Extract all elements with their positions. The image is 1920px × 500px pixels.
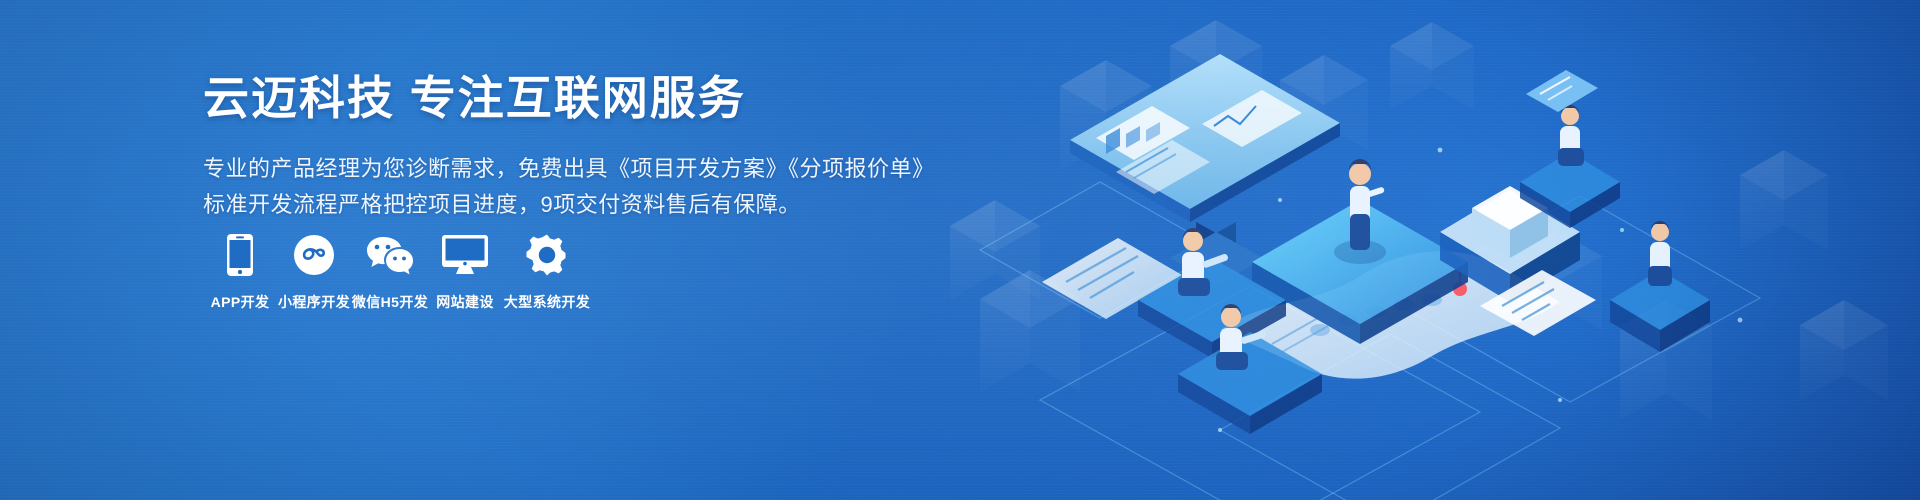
- service-label: 微信H5开发: [352, 292, 428, 312]
- promo-banner: 云迈科技 专注互联网服务 专业的产品经理为您诊断需求，免费出具《项目开发方案》《…: [0, 0, 1920, 500]
- wechat-icon: [365, 232, 415, 278]
- service-item-mini-program[interactable]: 小程序开发: [277, 232, 351, 312]
- service-item-website[interactable]: 网站建设: [429, 232, 501, 312]
- mobile-phone-icon: [227, 232, 253, 278]
- banner-text-block: 云迈科技 专注互联网服务 专业的产品经理为您诊断需求，免费出具《项目开发方案》《…: [203, 72, 963, 222]
- service-item-large-system[interactable]: 大型系统开发: [501, 232, 593, 312]
- subtitle-line-1: 专业的产品经理为您诊断需求，免费出具《项目开发方案》《分项报价单》: [203, 156, 935, 181]
- gear-icon: [525, 232, 569, 278]
- monitor-icon: [442, 232, 488, 278]
- service-label: APP开发: [211, 292, 270, 312]
- banner-subtitle: 专业的产品经理为您诊断需求，免费出具《项目开发方案》《分项报价单》 标准开发流程…: [203, 151, 963, 222]
- mini-program-icon: [293, 232, 335, 278]
- service-label: 网站建设: [436, 292, 494, 312]
- subtitle-line-2: 标准开发流程严格把控项目进度，9项交付资料售后有保障。: [203, 187, 963, 223]
- service-item-app[interactable]: APP开发: [203, 232, 277, 312]
- service-item-wechat-h5[interactable]: 微信H5开发: [351, 232, 429, 312]
- service-label: 小程序开发: [278, 292, 350, 312]
- service-list: APP开发 小程序开发 微信: [203, 232, 593, 312]
- service-label: 大型系统开发: [504, 292, 590, 312]
- page-title: 云迈科技 专注互联网服务: [203, 72, 963, 125]
- illustration-isometric-tech: [920, 0, 1920, 500]
